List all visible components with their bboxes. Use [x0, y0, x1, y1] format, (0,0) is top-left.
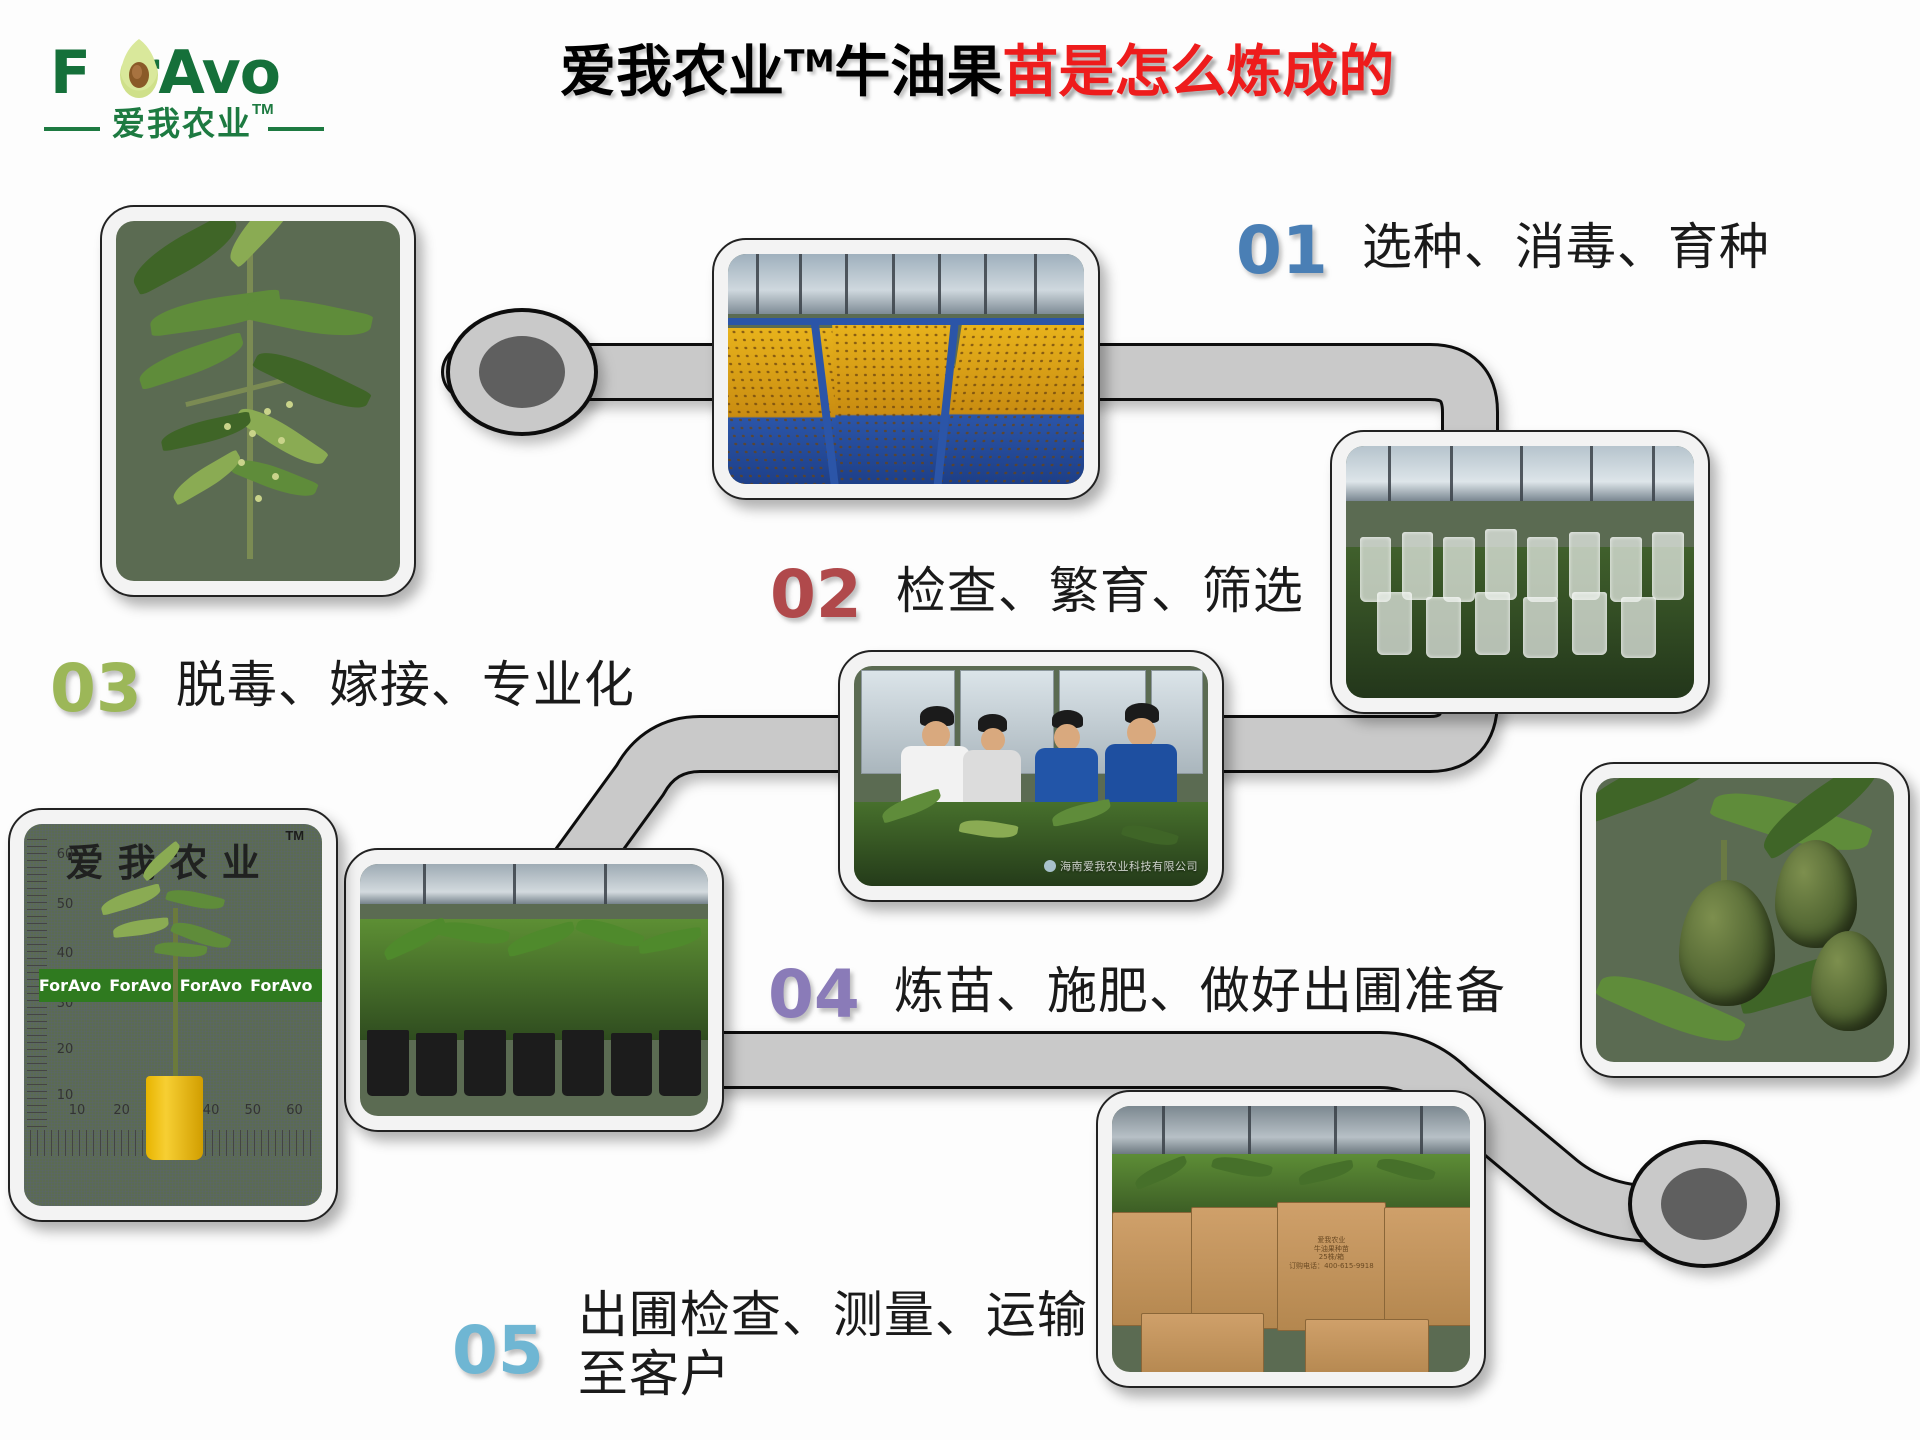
board-x-tick-20: 20 — [113, 1103, 130, 1118]
step-03-text: 脱毒、嫁接、专业化 — [176, 656, 635, 715]
board-y-tick-40: 40 — [57, 946, 74, 961]
step-04-text: 炼苗、施肥、做好出圃准备 — [894, 962, 1506, 1021]
board-y-tick-20: 20 — [57, 1042, 74, 1057]
board-x-tick-40: 40 — [203, 1103, 220, 1118]
photo-packing-boxes-shipping: 爱我农业 牛油果种苗 25株/箱 订购电话：400-615-9918 — [1096, 1090, 1486, 1388]
box-phone: 400-615-9918 — [1324, 1262, 1374, 1270]
shipping-box-labeled: 爱我农业 牛油果种苗 25株/箱 订购电话：400-615-9918 — [1277, 1202, 1386, 1332]
logo-rule-left — [44, 127, 100, 131]
board-y-tick-50: 50 — [57, 897, 74, 912]
title-black-2: 牛油果 — [834, 40, 1002, 105]
photo-bagged-plants-greenhouse — [1330, 430, 1710, 714]
board-y-tick-60: 60 — [57, 847, 74, 862]
photo-flowering-branch — [100, 205, 416, 597]
page-title: 爱我农业TM牛油果苗是怎么炼成的 — [560, 42, 1620, 104]
board-x-tick-50: 50 — [245, 1103, 262, 1118]
measuring-board: 爱我农业 TM 60 50 40 30 20 10 ForAvo ForAvo … — [24, 824, 322, 1206]
strip-foravo-4: ForAvo — [250, 976, 312, 995]
step-01: 01 选种、消毒、育种 — [1236, 218, 1770, 284]
photo-measuring-board-seedling: 爱我农业 TM 60 50 40 30 20 10 ForAvo ForAvo … — [8, 808, 338, 1222]
strip-foravo-1: ForAvo — [39, 976, 101, 995]
infographic-canvas: F rAvo 爱我农业 TM 爱我农业TM牛油果苗是怎么炼成的 — [0, 0, 1920, 1440]
logo-wordmark: F rAvo — [50, 43, 280, 103]
box-brand: 爱我农业 — [1288, 1236, 1374, 1245]
photo-potted-seedlings-rows — [344, 848, 724, 1132]
logo-rule-right — [268, 127, 324, 131]
photo-watermark: 海南爱我农业科技有限公司 — [1044, 858, 1198, 874]
process-start-node — [448, 310, 596, 434]
box-phone-label: 订购电话： — [1289, 1262, 1324, 1270]
box-line3: 25株/箱 — [1288, 1253, 1374, 1262]
title-tm: TM — [784, 44, 834, 79]
board-tm-mark: TM — [285, 828, 304, 843]
step-02: 02 检查、繁育、筛选 — [770, 562, 1304, 628]
title-black-1: 爱我农业 — [560, 40, 784, 105]
brand-logo: F rAvo 爱我农业 TM — [40, 35, 330, 150]
board-y-tick-10: 10 — [57, 1088, 74, 1103]
logo-chinese-name: 爱我农业 — [112, 107, 252, 140]
step-02-number: 02 — [770, 562, 862, 628]
step-03-number: 03 — [50, 656, 142, 722]
step-01-number: 01 — [1236, 218, 1328, 284]
step-03: 03 脱毒、嫁接、专业化 — [50, 656, 635, 722]
logo-tm-mark: TM — [252, 101, 274, 118]
title-red: 苗是怎么炼成的 — [1002, 40, 1394, 105]
process-end-node — [1630, 1142, 1778, 1266]
board-x-tick-10: 10 — [69, 1103, 86, 1118]
board-x-tick-60: 60 — [286, 1103, 303, 1118]
step-05-text: 出圃检查、测量、运输 至客户 — [578, 1286, 1088, 1404]
photo-seed-trays-greenhouse — [712, 238, 1100, 500]
step-02-text: 检查、繁育、筛选 — [896, 562, 1304, 621]
strip-foravo-3: ForAvo — [180, 976, 242, 995]
step-04-number: 04 — [768, 962, 860, 1028]
step-05-number: 05 — [452, 1318, 544, 1384]
photo-avocado-fruit-on-tree — [1580, 762, 1910, 1078]
board-foravo-strip: ForAvo ForAvo ForAvo ForAvo — [39, 969, 322, 1001]
step-01-text: 选种、消毒、育种 — [1362, 218, 1770, 277]
strip-foravo-2: ForAvo — [109, 976, 171, 995]
step-05: 05 出圃检查、测量、运输 至客户 — [452, 1286, 1088, 1404]
avocado-icon — [118, 37, 160, 99]
step-04: 04 炼苗、施肥、做好出圃准备 — [768, 962, 1506, 1028]
photo-staff-inspecting-seedlings: 海南爱我农业科技有限公司 — [838, 650, 1224, 902]
